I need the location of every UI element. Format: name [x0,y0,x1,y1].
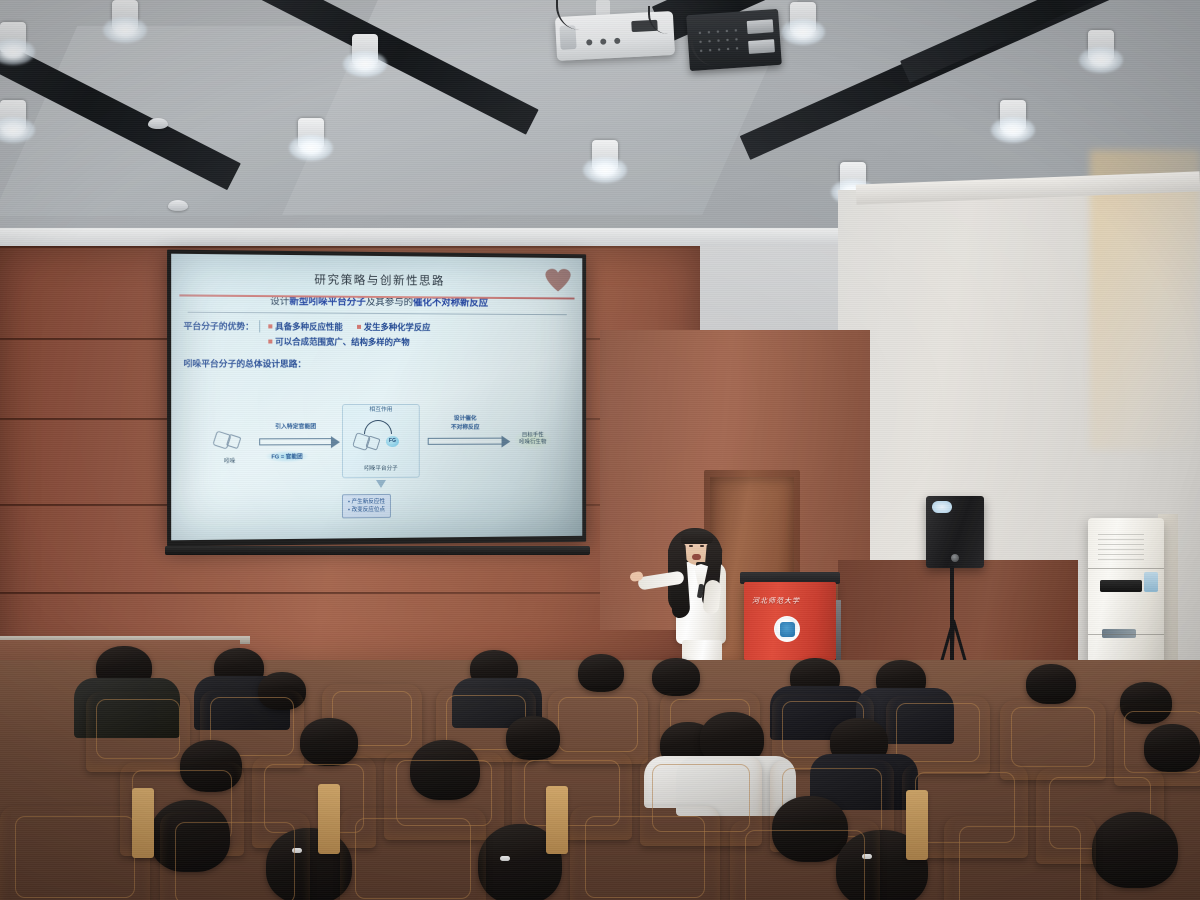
subtitle-highlight-1: 新型吲哚平台分子 [289,296,365,308]
design-approach-label: 吲哚平台分子的总体设计思路： [184,358,571,371]
bullet-icon [357,325,361,329]
hair-clip [500,856,510,861]
seat-armrest [132,788,154,858]
ceiling-light [298,118,324,148]
subtitle-lead: 设计 [270,296,289,307]
fg-tag-icon: FG [386,436,399,447]
audience-head [1092,812,1178,888]
advantages-row: 平台分子的优势： 具备多种反应性能 发生多种化学反应 可以合成范围宽广、结构多样… [184,320,571,352]
interaction-label: 相互作用 [342,407,420,414]
lectern: 河北师范大学 [744,582,836,660]
auditorium-seat [944,816,1096,900]
presenter [640,528,750,676]
target-product-label: 目标手性 吲哚衍生物 [514,430,551,450]
target-line-1: 目标手性 [522,433,544,439]
subtitle-highlight-2: 催化不对称新反应 [413,297,488,308]
auditorium-seat [730,820,880,900]
target-line-2: 吲哚衍生物 [519,440,546,446]
seat-armrest [318,784,340,854]
ceiling-light [0,100,26,130]
ac-grille [1100,580,1142,592]
reaction-scheme-diagram: 吲哚 引入特定官能团 FG = 官能团 相互作用 FG 吲哚平台分子 [171,402,582,540]
platform-molecule-caption: 吲哚平台分子 [351,464,411,472]
ceiling-light [1088,30,1114,60]
slide-title: 研究策略与创新性思路 [181,270,572,290]
reaction-arrow-2 [428,438,503,445]
ceiling-light [0,22,26,52]
platform-molecule-structure [354,432,384,454]
auditorium-seat [340,808,486,900]
lectern-banner-text: 河北师范大学 [752,596,828,606]
cornice [0,228,860,246]
ac-vent [1098,534,1144,560]
seat-armrest [906,790,928,860]
audience-head [578,654,624,692]
reaction-arrow-1 [259,438,332,445]
down-arrow-icon [376,480,386,488]
ceiling-vent [168,200,188,211]
bullet-icon [268,325,272,329]
audience-head [1144,724,1200,772]
ac-label [1144,572,1158,592]
speaker-badge [932,501,952,513]
bullet-icon [268,340,272,344]
note-item: • 产生新反应性 [348,497,385,506]
rack-panel [747,19,774,34]
auditorium-seat [160,812,310,900]
auditorium-seat [570,806,720,900]
seat-armrest [546,786,568,854]
lectern-stand [836,600,841,662]
presenter-mouth [692,554,701,560]
outcome-note-box: • 产生新反应性 • 改变反应位点 [342,494,391,518]
audience-head [652,658,700,696]
note-item: • 改变反应位点 [348,506,385,515]
pa-speaker [926,496,984,568]
audience-head [1026,664,1076,704]
arrow-2-label-line2: 不对称反应 [428,425,503,432]
heart-logo-icon [545,269,570,293]
smoke-detector-icon [148,118,168,129]
presenter-fringe [681,530,713,544]
ceiling-light [1000,100,1026,130]
university-seal-icon [774,616,800,642]
advantage-item: 可以合成范围宽广、结构多样的产物 [275,337,409,348]
wall-warm-light [1090,150,1200,450]
projector-knob [586,39,592,45]
ceiling-light [352,34,378,64]
arrow-2-label-line1: 设计催化 [428,416,503,423]
ceiling-light [112,0,138,30]
advantages-label: 平台分子的优势： [184,320,260,333]
arrow-1-label: 引入特定官能团 [259,424,332,431]
projector-knob [600,38,606,44]
indole-structure [214,430,245,452]
screen-bottom-bar [165,546,590,555]
advantage-item: 具备多种反应性能 [275,322,343,332]
speaker-driver [951,554,959,562]
lecture-hall-photo: 研究策略与创新性思路 设计新型吲哚平台分子及其参与的催化不对称新反应 平台分子的… [0,0,1200,900]
advantage-item: 发生多种化学反应 [364,322,431,332]
projection-screen: 研究策略与创新性思路 设计新型吲哚平台分子及其参与的催化不对称新反应 平台分子的… [167,250,586,547]
ceiling-light [592,140,618,170]
rack-panel [748,39,775,54]
projector-knob [614,38,620,44]
subtitle-middle: 及其参与的 [366,297,413,308]
indole-caption: 吲哚 [199,457,260,465]
ceiling-light [790,2,816,32]
air-conditioner [1088,518,1164,666]
fg-definition-pill: FG = 官能团 [265,450,308,462]
auditorium-seat [86,692,190,772]
presentation-slide: 研究策略与创新性思路 设计新型吲哚平台分子及其参与的催化不对称新反应 平台分子的… [171,254,582,541]
auditorium-seat [0,806,150,900]
